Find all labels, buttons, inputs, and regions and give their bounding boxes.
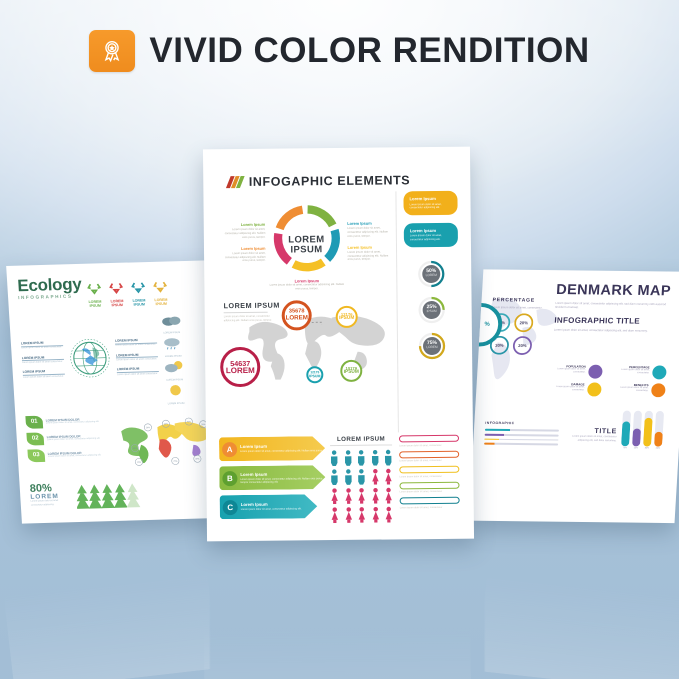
percent-label: LOREM <box>426 274 437 277</box>
callout-text: Lorem ipsum dolor sit amet consectetur. <box>23 375 65 379</box>
person-icon <box>330 469 338 485</box>
recycle-item: LOREM IPSUM <box>85 279 104 309</box>
globe-icon <box>66 335 115 386</box>
weather-item: LOREM IPSUM <box>163 383 188 405</box>
percentage-text: Lorem ipsum dolor sit amet, consectetur. <box>492 305 548 310</box>
people-row <box>330 468 392 485</box>
weather-label: LOREM IPSUM <box>163 378 187 382</box>
svg-text:50%: 50% <box>133 448 137 450</box>
weather-label: LOREM IPSUM <box>160 331 184 335</box>
world-map-section: LOREM IPSUM Lorem ipsum dolor sit amet, … <box>218 296 397 325</box>
banner-text: Lorem ipsum dolor sit amet, consectetur … <box>240 449 323 453</box>
donut-label: Lorem Ipsum Lorem ipsum dolor sit amet, … <box>219 222 266 239</box>
leaf-text: Lorem ipsum dolor sit amet, consectetur … <box>48 454 101 459</box>
capsule-card[interactable]: Lorem Ipsum Lorem ipsum dolor sit amet, … <box>404 222 458 246</box>
legend-text: Lorem ipsum dolor sit amet, consectetur. <box>607 386 648 393</box>
legend-item: PERCENTAGELorem ipsum dolor sit amet, co… <box>608 365 667 380</box>
person-icon <box>385 487 393 503</box>
denmark-section-title: INFOGRAPHIC TITLE <box>554 316 675 326</box>
pill <box>400 497 460 505</box>
svg-text:70%: 70% <box>173 461 177 463</box>
legend-item: BENEFITSLorem ipsum dolor sit amet, cons… <box>607 382 666 397</box>
poster-infographic-elements[interactable]: INFOGAPHIC ELEMENTS Lorem Ipsum Lorem ip… <box>203 147 474 542</box>
person-icon <box>371 469 379 485</box>
callout: LOREM IPSUMLorem ipsum dolor sit amet co… <box>23 369 66 380</box>
sun-icon <box>164 383 186 397</box>
capsule-title: Lorem Ipsum <box>410 228 452 233</box>
bar-chart: 70% 50% 80% 40% <box>621 410 664 449</box>
percentage-title: PERCENTAGE <box>492 297 548 304</box>
legend-text: Lorem ipsum dolor sit amet, consectetur. <box>608 369 649 376</box>
svg-text:10%: 10% <box>137 462 141 464</box>
map-pin-label: IPSUM <box>309 375 320 379</box>
person-icon <box>331 507 339 523</box>
banner-title: Lorem Ipsum <box>240 443 323 449</box>
bar <box>632 410 642 446</box>
pill-text: Lorem ipsum dolor sit amet, consectetur <box>400 505 460 509</box>
percent-ring: 75% LOREM <box>417 330 447 360</box>
poster-stage: Ecology INFOGRAPHICS LOREM IPSUM LOREM I… <box>0 0 679 679</box>
weather-label: LOREM IPSUM <box>164 402 188 406</box>
banner-key: A <box>222 442 237 457</box>
people-pictogram: LOREM IPSUM <box>330 435 393 526</box>
poster-ecology[interactable]: Ecology INFOGRAPHICS LOREM IPSUM LOREM I… <box>6 260 227 523</box>
donut-center-line2: IPSUM <box>290 244 322 255</box>
percent-label: LOREM <box>426 346 437 349</box>
people-row <box>330 449 392 466</box>
svg-text:40%: 40% <box>187 421 191 423</box>
map-pin-label: IPSUM <box>344 371 359 376</box>
weather-item: LOREM IPSUM <box>160 336 185 358</box>
callout: LOREM IPSUMLorem ipsum dolor sit amet co… <box>117 366 160 377</box>
pill-text: Lorem ipsum dolor sit amet, consectetur <box>400 490 460 494</box>
callout-text: Lorem ipsum dolor sit amet consectetur. <box>115 344 157 348</box>
leaf-item: 01 LOREM IPSUM DOLORLorem ipsum dolor si… <box>25 414 111 429</box>
map-pin-label: LOREM <box>226 367 255 375</box>
leaf-text: Lorem ipsum dolor sit amet, consectetur … <box>47 438 100 443</box>
callout: LOREM IPSUMLorem ipsum dolor sit amet co… <box>116 352 159 363</box>
legend-dot <box>651 383 666 397</box>
donut-label-text: Lorem ipsum dolor sit amet, consectetur … <box>269 283 345 291</box>
recycle-item: LOREM IPSUM <box>107 278 126 308</box>
person-icon <box>331 488 339 504</box>
legend-dot <box>652 365 667 379</box>
donut-label-text: Lorem ipsum dolor sit amet, consectetur … <box>347 227 394 238</box>
person-icon <box>330 450 338 466</box>
bottom-section: A Lorem IpsumLorem ipsum dolor sit amet,… <box>219 432 461 528</box>
donut-label-text: Lorem ipsum dolor sit amet, consectetur … <box>348 251 395 262</box>
map-pin-label: LOREM <box>286 315 308 321</box>
donut-label-title: Lorem Ipsum <box>347 221 394 226</box>
tree-chart <box>76 481 150 513</box>
person-icon <box>358 507 366 523</box>
donut-label: Lorem Ipsum Lorem ipsum dolor sit amet, … <box>219 246 266 263</box>
people-row <box>331 487 393 504</box>
recycle-icon-row: LOREM IPSUM LOREM IPSUM LOREM IPSUM LORE… <box>85 277 170 309</box>
denmark-section-text: Lorem ipsum dolor sit amet, consectetur … <box>554 328 675 334</box>
capsule-text: Lorem ipsum dolor sit amet, consectetur … <box>410 234 452 242</box>
callout-text: Lorem ipsum dolor sit amet consectetur. <box>116 358 158 362</box>
percent-rings: 50% LOREM 25% IPSUM 75 <box>404 254 459 361</box>
pill <box>399 435 459 443</box>
person-icon <box>384 468 392 484</box>
banner-b[interactable]: B Lorem IpsumLorem ipsum dolor sit amet,… <box>219 465 325 490</box>
sun-cloud-icon <box>163 359 185 373</box>
recycle-label-2: IPSUM <box>153 303 170 307</box>
svg-text:60%: 60% <box>164 423 168 425</box>
pill-text: Lorem ipsum dolor sit amet, consectetur <box>399 443 459 447</box>
reflection-left <box>0 509 218 679</box>
bar-label: 50% <box>632 447 640 449</box>
recycle-item: LOREM IPSUM <box>151 277 170 307</box>
svg-text:90%: 90% <box>195 458 199 460</box>
banner-text: Lorem ipsum dolor sit amet, consectetur … <box>241 508 302 512</box>
recycle-label-2: IPSUM <box>131 303 148 307</box>
recycle-item: LOREM IPSUM <box>129 278 148 308</box>
pill-list: Lorem ipsum dolor sit amet, consectetur … <box>397 435 460 526</box>
donut-label: Lorem Ipsum Lorem ipsum dolor sit amet, … <box>347 221 394 238</box>
callout: LOREM IPSUMLorem ipsum dolor sit amet co… <box>22 355 65 366</box>
colorful-world-map: 20%60%40% 30%50%10% 70%90% <box>115 411 214 478</box>
donut-chart: LOREM IPSUM Lorem Ipsum Lorem ipsum dolo… <box>268 200 345 291</box>
bar <box>643 411 653 447</box>
person-icon <box>371 507 379 523</box>
callout-text: Lorem ipsum dolor sit amet consectetur. <box>117 373 159 377</box>
pill <box>399 450 459 458</box>
percent-core: 75% LOREM <box>423 336 441 354</box>
percent-ring: 20% <box>512 336 532 355</box>
banner-c[interactable]: C Lorem IpsumLorem ipsum dolor sit amet,… <box>220 494 326 519</box>
donut-label: Lorem Ipsum Lorem ipsum dolor sit amet, … <box>269 278 345 291</box>
callout-text: Lorem ipsum dolor sit amet consectetur. <box>21 347 63 351</box>
capsule-text: Lorem ipsum dolor sit amet, consectetur … <box>410 202 452 210</box>
banner-key: C <box>223 500 238 515</box>
people-title: LOREM IPSUM <box>330 435 392 443</box>
pill-text: Lorem ipsum dolor sit amet, consectetur <box>399 474 459 478</box>
banner-a[interactable]: A Lorem IpsumLorem ipsum dolor sit amet,… <box>219 436 325 461</box>
capsule-card[interactable]: Lorem Ipsum Lorem ipsum dolor sit amet, … <box>403 191 457 215</box>
slash-logo-icon <box>226 176 244 188</box>
percent-ring: 20% <box>514 313 534 332</box>
denmark-text: Lorem ipsum dolor sit amet, consectetur … <box>555 301 676 311</box>
progress-line <box>484 438 558 440</box>
callout: LOREM IPSUMLorem ipsum dolor sit amet co… <box>115 338 158 349</box>
callout-text: Lorem ipsum dolor sit amet consectetur. <box>22 361 64 365</box>
leaf-text: Lorem ipsum dolor sit amet, consectetur … <box>46 421 99 426</box>
person-icon <box>371 450 379 466</box>
banner-key: B <box>222 471 237 486</box>
donut-label: Lorem Ipsum Lorem ipsum dolor sit amet, … <box>347 245 394 262</box>
poster-denmark-map[interactable]: PERCENTAGE Lorem ipsum dolor sit amet, c… <box>469 269 679 523</box>
callout: LOREM IPSUMLorem ipsum dolor sit amet co… <box>21 340 64 351</box>
ecology-title: Ecology <box>17 276 82 295</box>
leaf-number: 03 <box>27 449 45 462</box>
denmark-title: DENMARK MAP <box>556 282 678 299</box>
cloud-icon <box>160 312 182 326</box>
weather-label: LOREM IPSUM <box>161 354 185 358</box>
center-poster-title: INFOGAPHIC ELEMENTS <box>249 173 411 189</box>
donut-center-label: LOREM IPSUM <box>288 235 325 255</box>
recycle-label-2: IPSUM <box>109 304 126 308</box>
lines-label: INFOGRAPHIC <box>485 421 559 426</box>
pill <box>399 481 459 489</box>
person-icon <box>357 450 365 466</box>
weather-item: LOREM IPSUM <box>159 312 184 334</box>
person-icon <box>344 507 352 523</box>
bar-label: 70% <box>621 447 629 449</box>
center-poster-header: INFOGAPHIC ELEMENTS <box>228 173 457 189</box>
pill <box>399 466 459 474</box>
person-icon <box>357 469 365 485</box>
weather-item: LOREM IPSUM <box>161 359 186 381</box>
person-icon <box>385 506 393 522</box>
donut-label-text: Lorem ipsum dolor sit amet, consectetur … <box>219 252 266 263</box>
reflection-center <box>203 539 472 679</box>
people-row <box>331 506 393 523</box>
progress-line <box>485 429 559 431</box>
rain-cloud-icon <box>162 336 184 350</box>
banner-text: Lorem ipsum dolor sit amet, consectetur … <box>240 477 325 485</box>
banner-title: Lorem Ipsum <box>241 502 302 508</box>
recycle-label-2: IPSUM <box>87 305 104 309</box>
bar <box>654 411 664 447</box>
donut-label-title: Lorem Ipsum <box>347 245 394 250</box>
legend-dot <box>588 364 603 378</box>
person-icon <box>344 450 352 466</box>
donut-label-title: Lorem Ipsum <box>219 246 266 251</box>
progress-line <box>485 434 559 436</box>
donut-label-title: Lorem Ipsum <box>219 222 266 227</box>
percent-core: 25% IPSUM <box>423 300 441 318</box>
percent-ring: 25% IPSUM <box>416 294 446 324</box>
leaf-number: 01 <box>25 416 43 429</box>
banner-title: Lorem Ipsum <box>240 471 325 477</box>
chart-text: Lorem ipsum dolor sit amet, consectetur … <box>566 435 616 443</box>
percent-ring: 50% LOREM <box>416 258 446 288</box>
percent-label: IPSUM <box>427 310 437 313</box>
leaf-item: 03 LOREM IPSUM DOLORLorem ipsum dolor si… <box>27 447 113 462</box>
ecology-subtitle: INFOGRAPHICS <box>18 293 82 300</box>
person-icon <box>358 488 366 504</box>
map-pin[interactable]: 12175 IPSUM <box>306 366 323 383</box>
stat-text: Lorem ipsum dolor sit amet consectetur a… <box>31 500 71 507</box>
svg-text:20%: 20% <box>146 427 150 429</box>
person-icon <box>344 488 352 504</box>
donut-label-text: Lorem ipsum dolor sit amet, consectetur … <box>219 228 266 239</box>
percent-core: 50% LOREM <box>422 264 440 282</box>
bar <box>621 410 631 446</box>
bar-label: 80% <box>643 447 651 449</box>
capsule-title: Lorem Ipsum <box>409 196 451 201</box>
leaf-number: 02 <box>26 432 44 445</box>
bar-label: 40% <box>654 447 662 449</box>
legend-dot <box>587 382 602 396</box>
person-icon <box>344 469 352 485</box>
pill-text: Lorem ipsum dolor sit amet, consectetur <box>399 459 459 463</box>
leaf-item: 02 LOREM IPSUM DOLORLorem ipsum dolor si… <box>26 430 112 445</box>
person-icon <box>384 449 392 465</box>
reflection-right <box>477 512 679 679</box>
map-pin-label: IPSUM <box>339 317 354 322</box>
map-pin[interactable]: 54637 LOREM <box>220 347 260 387</box>
person-icon <box>371 488 379 504</box>
donut-section: Lorem Ipsum Lorem ipsum dolor sit amet, … <box>216 191 396 297</box>
progress-line <box>484 443 558 445</box>
banner-list: A Lorem IpsumLorem ipsum dolor sit amet,… <box>219 436 326 527</box>
